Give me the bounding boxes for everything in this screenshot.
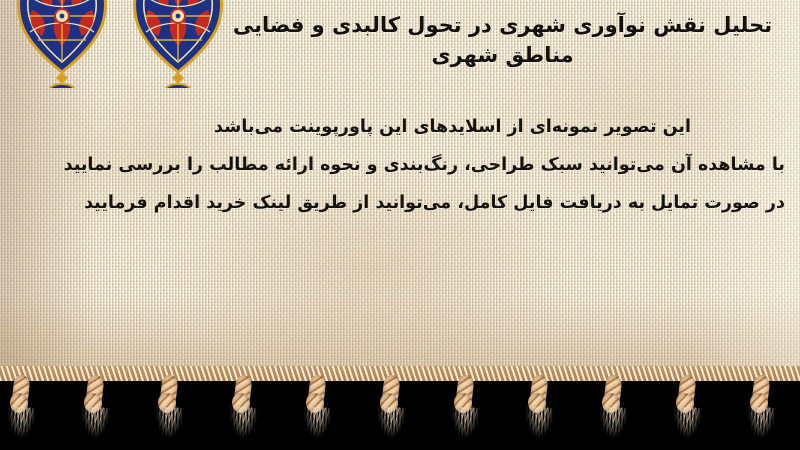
tassel-strands	[228, 406, 259, 448]
tassel-strands	[80, 406, 111, 448]
slide-title: تحلیل نقش نوآوری شهری در تحول کالبدی و ف…	[215, 10, 790, 70]
body-line-1: این تصویر نمونه‌ای از اسلایدهای این پاور…	[120, 108, 785, 146]
fringe-tassel	[598, 375, 628, 447]
presentation-slide: تحلیل نقش نوآوری شهری در تحول کالبدی و ف…	[0, 0, 800, 450]
tassel-strands	[376, 406, 407, 448]
fringe-tassel	[672, 375, 702, 447]
tassel-strands	[746, 406, 777, 448]
tassel-strands	[524, 406, 555, 448]
body-line-2: با مشاهده آن می‌توانید سبک طراحی، رنگ‌بن…	[120, 146, 785, 184]
tassel-strands	[450, 406, 481, 448]
tassel-strands	[6, 406, 37, 448]
fringe-tassel	[6, 375, 36, 447]
fringe-tassel	[376, 375, 406, 447]
fringe-tassel	[228, 375, 258, 447]
tassel-strands	[672, 406, 703, 448]
slide-body: این تصویر نمونه‌ای از اسلایدهای این پاور…	[120, 108, 785, 222]
fringe-tassel	[302, 375, 332, 447]
tassel-strands	[154, 406, 185, 448]
persian-medallion-left-icon	[12, 0, 112, 92]
carpet-fringe	[0, 366, 800, 450]
tassel-strands	[598, 406, 629, 448]
fringe-tassel	[524, 375, 554, 447]
fringe-tassel	[450, 375, 480, 447]
tassel-strands	[302, 406, 333, 448]
fringe-tassel	[746, 375, 776, 447]
persian-medallion-right-icon	[128, 0, 228, 92]
body-line-3: در صورت تمایل به دریافت فایل کامل، می‌تو…	[120, 184, 785, 222]
fringe-tassel	[154, 375, 184, 447]
fringe-tassel	[80, 375, 110, 447]
